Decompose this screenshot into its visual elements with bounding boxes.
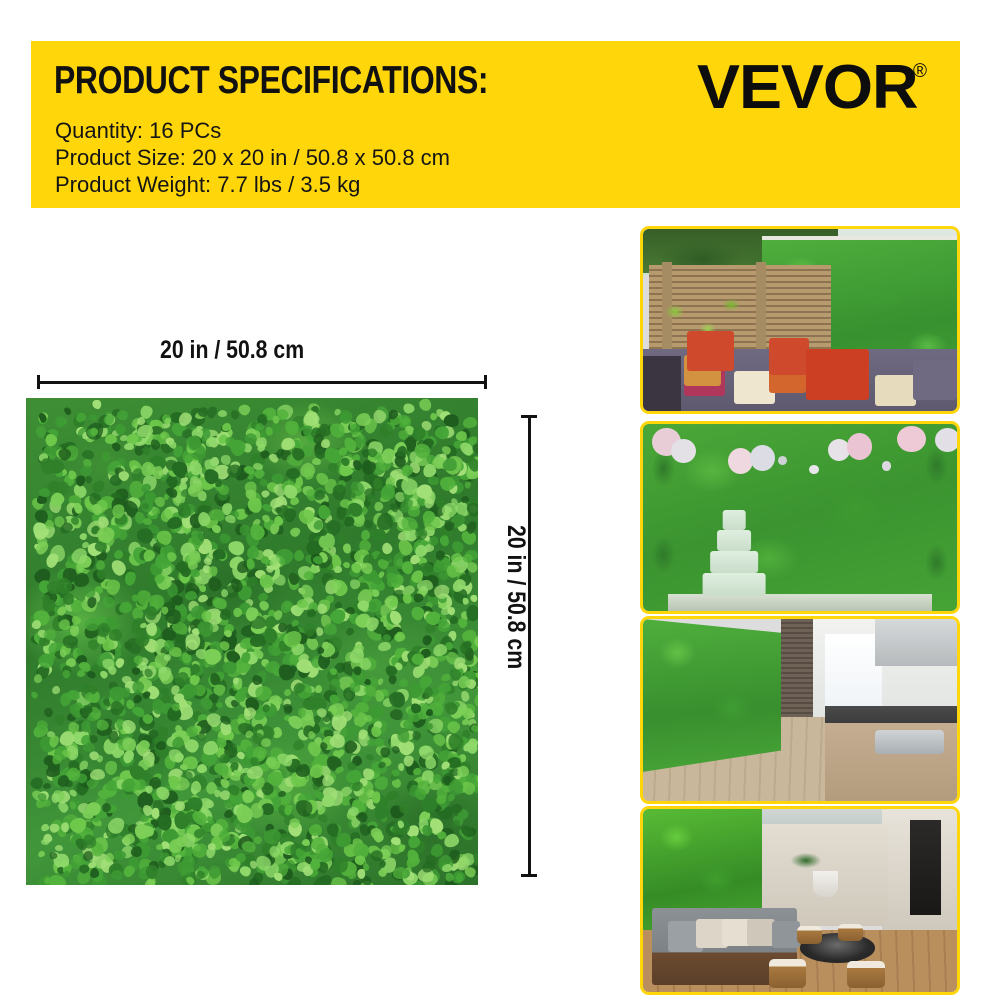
hedge-leaf — [46, 766, 60, 777]
pillow — [772, 921, 800, 948]
hedge-leaf — [115, 424, 126, 435]
wood-stool — [838, 924, 863, 940]
balloon — [750, 445, 775, 471]
hedge-leaf — [43, 783, 51, 789]
hedge-leaf — [355, 412, 371, 426]
hedge-leaf — [326, 823, 339, 838]
hedge-leaf — [31, 619, 41, 629]
hedge-leaf — [469, 594, 477, 602]
hedge-leaf — [366, 753, 375, 761]
hedge-leaf — [432, 560, 445, 572]
hedge-leaf — [462, 598, 469, 606]
hedge-leaf — [264, 660, 280, 674]
hedge-leaf — [356, 869, 365, 880]
specifications-list: Quantity: 16 PCs Product Size: 20 x 20 i… — [55, 117, 450, 198]
pillow — [806, 349, 869, 400]
hedge-leaf — [37, 850, 46, 858]
hedge-leaf — [29, 775, 45, 791]
hedge-leaf — [344, 627, 355, 637]
hedge-leaf — [463, 416, 477, 427]
hedge-leaf — [145, 879, 155, 885]
hedge-leaf — [124, 442, 134, 450]
hedge-leaf — [54, 714, 66, 726]
hedge-leaf — [51, 685, 60, 694]
hedge-leaf — [54, 844, 63, 851]
hedge-leaf — [152, 507, 160, 515]
kitchen-sink — [875, 730, 944, 754]
hedge-leaf — [366, 493, 374, 502]
hedge-leaf — [372, 830, 385, 844]
hedge-leaf — [398, 763, 404, 771]
hedge-leaf — [139, 622, 146, 628]
small-balloon — [882, 461, 891, 470]
hedge-leaf — [95, 754, 105, 764]
hedge-leaf — [30, 690, 39, 699]
hedge-leaf — [103, 760, 119, 777]
pillow — [747, 919, 775, 946]
stone-column — [781, 619, 812, 732]
hedge-leaf — [438, 620, 451, 631]
spec-quantity: Quantity: 16 PCs — [55, 117, 450, 144]
gallery-photo-party-backdrop-scene — [640, 421, 960, 614]
wood-stool — [769, 959, 807, 988]
hedge-leaf — [316, 627, 324, 636]
hedge-leaf — [439, 535, 448, 546]
hedge-leaf — [166, 517, 182, 530]
vevor-wordmark: VEVOR — [697, 57, 918, 119]
spec-product-weight: Product Weight: 7.7 lbs / 3.5 kg — [55, 171, 450, 198]
hedge-leaf — [246, 559, 254, 570]
hedge-leaf — [187, 560, 198, 570]
hedge-leaf — [461, 496, 469, 503]
cake-tier — [710, 551, 758, 573]
hedge-leaf — [188, 483, 204, 498]
balloon — [935, 428, 960, 452]
hedge-leaf — [141, 445, 152, 457]
hedge-leaf — [308, 823, 323, 837]
product-hedge-panel — [26, 398, 478, 885]
hedge-leaf — [83, 834, 96, 848]
hedge-leaf — [220, 609, 232, 621]
hedge-leaf — [417, 579, 433, 591]
hedge-leaf — [283, 706, 291, 714]
pillow — [769, 338, 810, 374]
sofa-arm — [643, 356, 681, 411]
hedge-leaf — [293, 549, 304, 562]
hedge-leaf — [227, 540, 245, 557]
hedge-leaf — [397, 729, 409, 743]
hedge-leaf — [218, 410, 228, 418]
cake-tier — [703, 573, 766, 596]
hedge-leaf — [33, 674, 42, 683]
hedge-leaf — [285, 467, 300, 479]
hedge-leaf — [371, 791, 381, 803]
hedge-leaf — [278, 790, 286, 797]
dimension-bar — [37, 381, 487, 384]
cake-tier — [723, 510, 746, 530]
page-title: PRODUCT SPECIFICATIONS: — [54, 59, 488, 103]
hedge-leaf — [343, 544, 351, 554]
hedge-leaf — [446, 606, 456, 616]
hedge-leaf — [89, 769, 105, 781]
hedge-leaf — [282, 420, 300, 437]
hedge-leaf — [43, 706, 55, 718]
fern-decoration — [643, 518, 684, 593]
hedge-leaf — [38, 487, 50, 498]
hedge-leaf — [54, 415, 66, 429]
hedge-leaf — [411, 703, 422, 713]
hedge-leaf — [87, 412, 97, 422]
tiered-cake — [703, 506, 766, 596]
hedge-leaf — [118, 601, 132, 613]
dessert-table — [668, 594, 932, 611]
hedge-accent-wall — [643, 619, 781, 772]
white-planter — [813, 871, 838, 897]
hedge-leaf — [392, 769, 400, 776]
hedge-leaf — [461, 691, 470, 702]
hedge-leaf — [81, 448, 95, 460]
upper-cabinets — [875, 619, 957, 666]
hedge-leaf — [321, 794, 335, 807]
hedge-leaf — [114, 850, 122, 859]
hedge-leaf — [101, 594, 116, 609]
wood-stool — [847, 961, 885, 988]
window — [825, 634, 882, 716]
hedge-leaf — [102, 451, 110, 461]
dimension-cap-right — [484, 375, 487, 389]
pillow — [913, 360, 957, 400]
fern-decoration — [916, 525, 957, 600]
hedge-leaf — [144, 606, 157, 621]
hedge-leaf — [323, 622, 337, 636]
hedge-leaf — [108, 730, 119, 743]
hedge-leaf — [154, 496, 166, 507]
hedge-leaf — [413, 768, 421, 775]
spec-product-size: Product Size: 20 x 20 in / 50.8 x 50.8 c… — [55, 144, 450, 171]
hedge-leaf — [82, 850, 93, 861]
specifications-banner: PRODUCT SPECIFICATIONS: Quantity: 16 PCs… — [31, 41, 960, 208]
balloon — [897, 426, 925, 452]
hedge-leaf — [450, 616, 458, 624]
hedge-leaf — [71, 616, 80, 625]
dimension-cap-left — [37, 375, 40, 389]
gallery-photo-interior-kitchen-scene — [640, 616, 960, 804]
hedge-leaf — [96, 719, 109, 731]
hedge-leaf — [284, 689, 291, 696]
dimension-cap-top — [521, 415, 537, 418]
hedge-leaf — [336, 533, 347, 545]
glass-door — [910, 820, 941, 915]
hedge-leaf — [362, 518, 374, 530]
product-spec-page: PRODUCT SPECIFICATIONS: Quantity: 16 PCs… — [0, 0, 1000, 1000]
hedge-leaf — [123, 834, 135, 845]
hedge-leaf — [257, 599, 270, 612]
wood-stool — [797, 926, 822, 944]
hedge-leaf — [92, 399, 102, 410]
hedge-leaf — [114, 550, 124, 559]
hedge-leaf — [377, 641, 390, 651]
hedge-leaf — [205, 436, 216, 447]
hedge-leaf — [442, 864, 453, 873]
hedge-leaf — [426, 709, 434, 717]
gallery-photo-patio-sofa-scene — [640, 226, 960, 414]
hedge-leaf — [334, 566, 343, 573]
vevor-logo: VEVOR ® — [697, 57, 927, 119]
hedge-leaf — [95, 559, 106, 571]
hedge-leaf — [403, 403, 415, 414]
hedge-leaf — [157, 725, 169, 738]
hedge-leaf — [419, 399, 431, 411]
dimension-cap-bottom — [521, 874, 537, 877]
hedge-leaf-layer — [26, 398, 478, 885]
gallery-photo-courtyard-lounge-scene — [640, 806, 960, 995]
hedge-leaf — [111, 441, 122, 453]
hedge-leaf — [185, 725, 197, 736]
hedge-leaf — [36, 426, 46, 438]
width-dimension-label: 20 in / 50.8 cm — [160, 336, 304, 365]
hedge-leaf — [445, 873, 453, 882]
pillow — [875, 375, 916, 406]
kitchen-counter — [825, 706, 957, 801]
hedge-leaf — [401, 517, 417, 531]
height-dimension-label: 20 in / 50.8 cm — [501, 525, 530, 669]
hedge-leaf — [399, 679, 408, 688]
cake-tier — [717, 530, 751, 552]
hedge-leaf — [347, 869, 356, 878]
hedge-leaf — [292, 739, 304, 750]
hedge-leaf — [461, 718, 469, 725]
balloon — [847, 433, 872, 459]
hedge-leaf — [89, 734, 98, 744]
hedge-leaf — [63, 406, 72, 415]
hedge-leaf — [185, 590, 197, 599]
hedge-leaf — [137, 528, 153, 544]
hedge-leaf — [367, 738, 374, 746]
hedge-leaf — [174, 671, 189, 687]
hedge-leaf — [75, 412, 86, 422]
hedge-leaf — [289, 525, 302, 538]
width-dimension-line — [37, 375, 487, 389]
hedge-leaf — [247, 497, 262, 513]
pillow — [687, 331, 734, 371]
hedge-leaf — [306, 608, 317, 618]
hedge-leaf — [255, 423, 264, 431]
hedge-leaf — [264, 627, 277, 643]
